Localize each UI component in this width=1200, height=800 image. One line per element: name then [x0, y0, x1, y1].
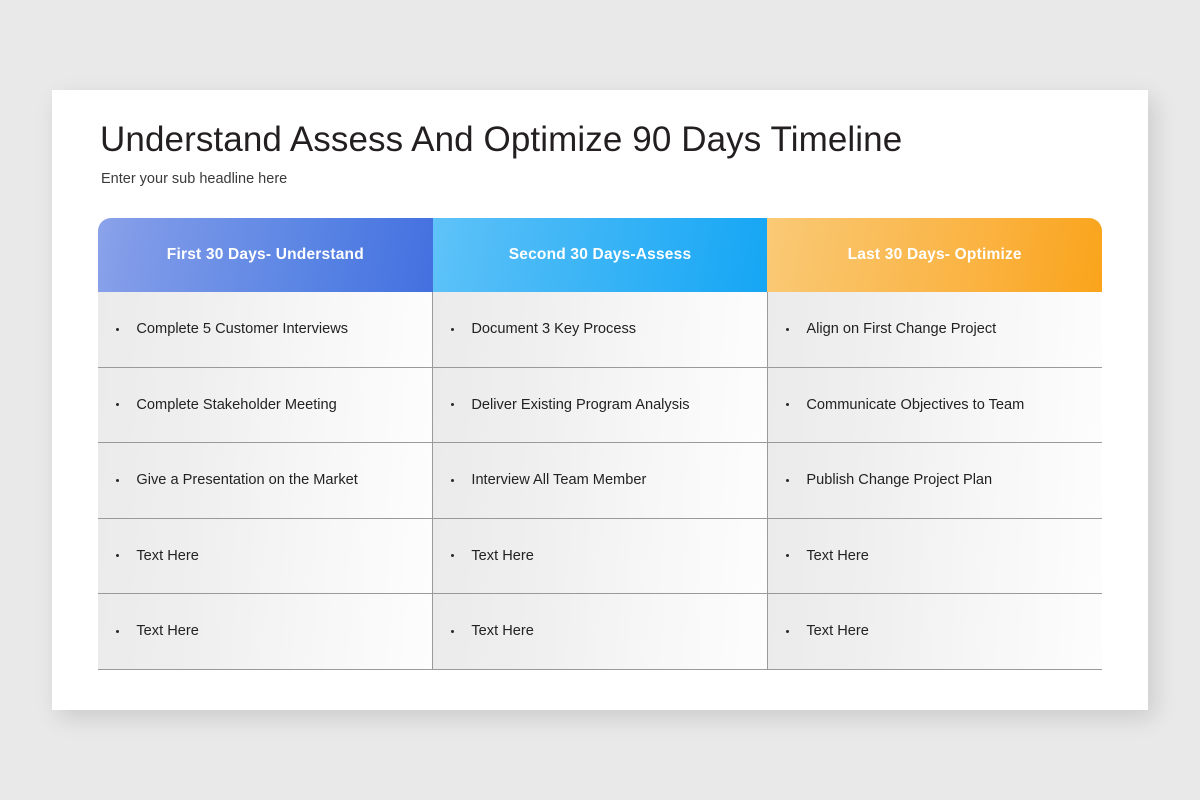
- bullet-icon: [786, 328, 789, 331]
- list-item-label: Document 3 Key Process: [471, 321, 636, 337]
- page-title: Understand Assess And Optimize 90 Days T…: [100, 120, 902, 160]
- timeline-table: First 30 Days- Understand Second 30 Days…: [98, 218, 1102, 670]
- list-item[interactable]: Text Here: [767, 594, 1102, 669]
- list-item-label: Interview All Team Member: [471, 472, 646, 488]
- bullet-icon: [786, 403, 789, 406]
- list-item-label: Publish Change Project Plan: [806, 472, 992, 488]
- list-item-label: Text Here: [806, 623, 868, 639]
- list-item-label: Text Here: [136, 548, 198, 564]
- bullet-icon: [116, 328, 119, 331]
- list-item[interactable]: Text Here: [98, 594, 432, 669]
- column-header-last-30-days[interactable]: Last 30 Days- Optimize: [767, 218, 1102, 292]
- table-row: Complete Stakeholder Meeting Deliver Exi…: [98, 368, 1102, 444]
- bullet-icon: [786, 630, 789, 633]
- column-header-label: Last 30 Days- Optimize: [848, 246, 1022, 264]
- bullet-icon: [786, 479, 789, 482]
- list-item[interactable]: Complete Stakeholder Meeting: [98, 368, 432, 443]
- list-item-label: Complete 5 Customer Interviews: [136, 321, 348, 337]
- list-item[interactable]: Text Here: [432, 519, 767, 594]
- list-item-label: Text Here: [471, 623, 533, 639]
- list-item[interactable]: Complete 5 Customer Interviews: [98, 292, 432, 367]
- table-row: Text Here Text Here Text Here: [98, 519, 1102, 595]
- column-header-second-30-days[interactable]: Second 30 Days-Assess: [433, 218, 768, 292]
- bullet-icon: [116, 403, 119, 406]
- list-item[interactable]: Document 3 Key Process: [432, 292, 767, 367]
- table-header-row: First 30 Days- Understand Second 30 Days…: [98, 218, 1102, 292]
- bullet-icon: [786, 554, 789, 557]
- bullet-icon: [451, 328, 454, 331]
- list-item-label: Text Here: [136, 623, 198, 639]
- table-row: Complete 5 Customer Interviews Document …: [98, 292, 1102, 368]
- bullet-icon: [116, 479, 119, 482]
- list-item[interactable]: Deliver Existing Program Analysis: [432, 368, 767, 443]
- page-subtitle: Enter your sub headline here: [101, 171, 287, 187]
- list-item[interactable]: Text Here: [432, 594, 767, 669]
- list-item-label: Align on First Change Project: [806, 321, 996, 337]
- bullet-icon: [451, 630, 454, 633]
- list-item-label: Text Here: [471, 548, 533, 564]
- list-item[interactable]: Publish Change Project Plan: [767, 443, 1102, 518]
- slide-canvas: Understand Assess And Optimize 90 Days T…: [52, 90, 1148, 710]
- column-header-label: First 30 Days- Understand: [167, 246, 364, 264]
- list-item[interactable]: Text Here: [767, 519, 1102, 594]
- bullet-icon: [116, 630, 119, 633]
- bullet-icon: [451, 554, 454, 557]
- list-item-label: Give a Presentation on the Market: [136, 472, 357, 488]
- column-header-label: Second 30 Days-Assess: [509, 246, 692, 264]
- table-row: Give a Presentation on the Market Interv…: [98, 443, 1102, 519]
- bullet-icon: [116, 554, 119, 557]
- list-item[interactable]: Align on First Change Project: [767, 292, 1102, 367]
- list-item[interactable]: Give a Presentation on the Market: [98, 443, 432, 518]
- list-item-label: Complete Stakeholder Meeting: [136, 397, 336, 413]
- table-row: Text Here Text Here Text Here: [98, 594, 1102, 670]
- list-item[interactable]: Interview All Team Member: [432, 443, 767, 518]
- list-item-label: Text Here: [806, 548, 868, 564]
- column-header-first-30-days[interactable]: First 30 Days- Understand: [98, 218, 433, 292]
- bullet-icon: [451, 403, 454, 406]
- list-item-label: Communicate Objectives to Team: [806, 397, 1024, 413]
- list-item[interactable]: Communicate Objectives to Team: [767, 368, 1102, 443]
- list-item[interactable]: Text Here: [98, 519, 432, 594]
- bullet-icon: [451, 479, 454, 482]
- list-item-label: Deliver Existing Program Analysis: [471, 397, 689, 413]
